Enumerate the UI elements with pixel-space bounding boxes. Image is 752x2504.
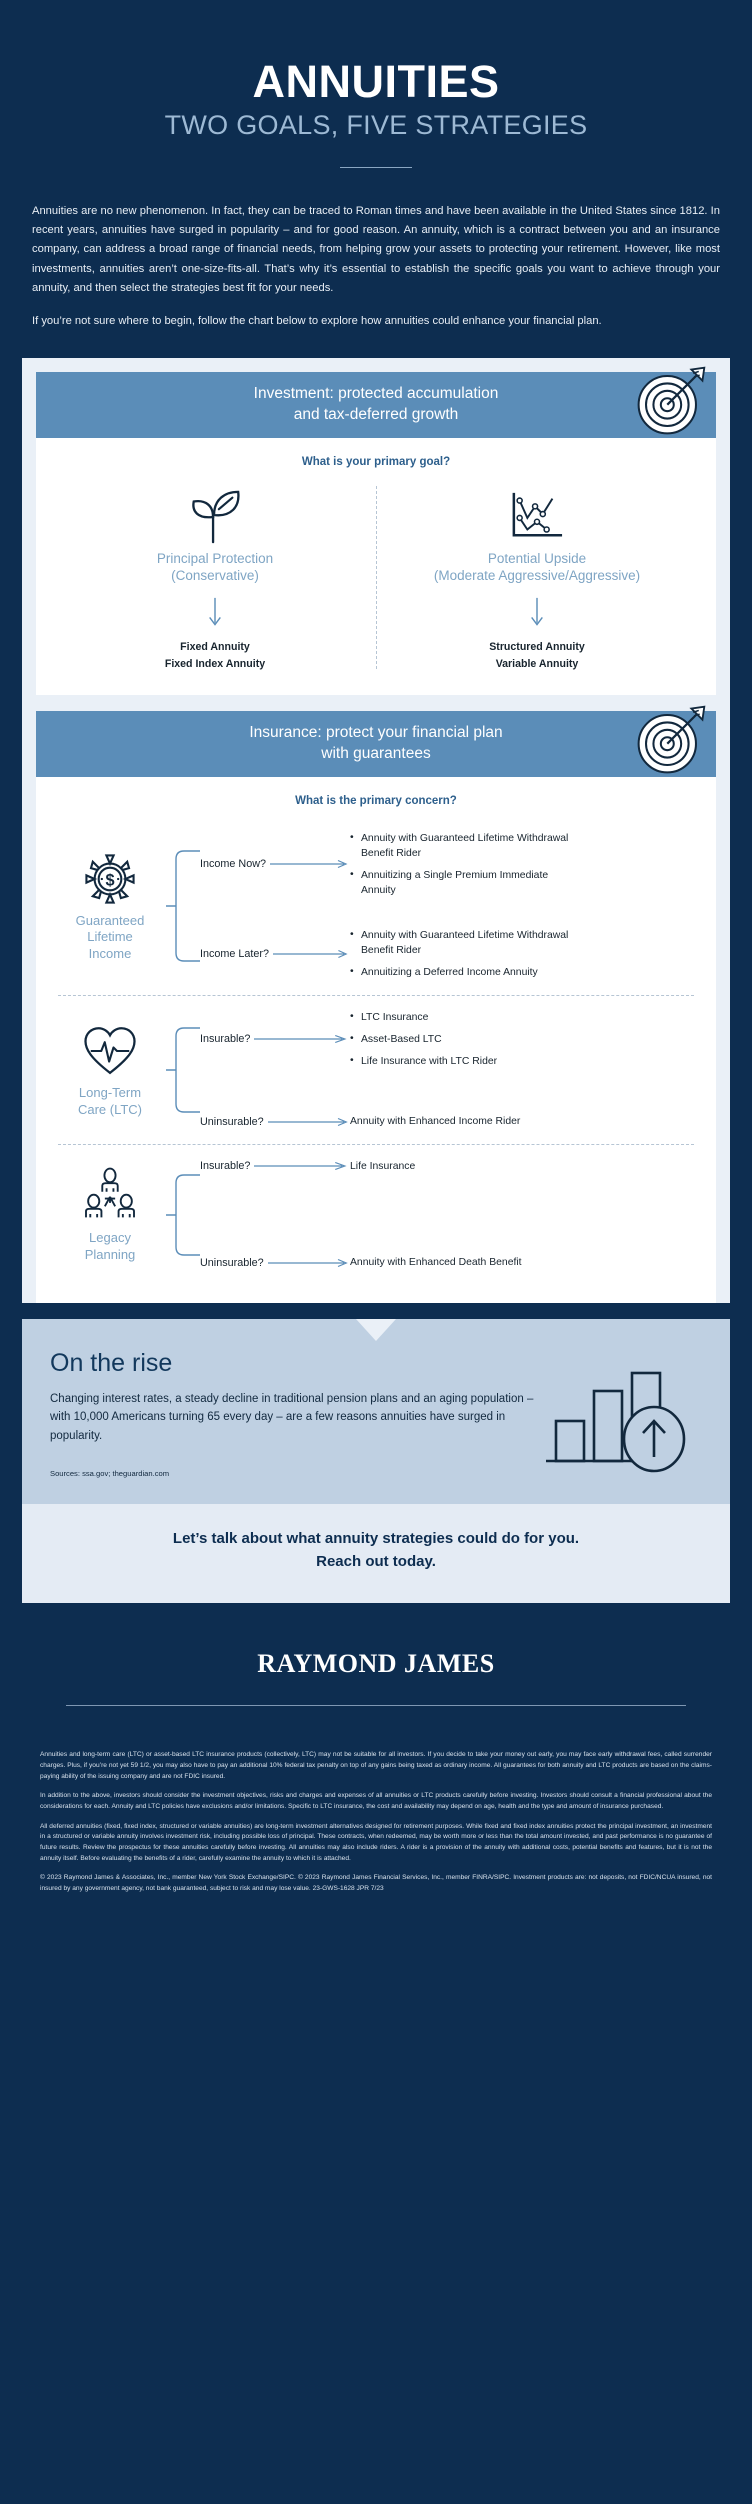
cta-text: Let’s talk about what annuity strategies… <box>46 1528 706 1573</box>
disclaimer-paragraph-4: © 2023 Raymond James & Associates, Inc.,… <box>40 1873 712 1894</box>
investment-heading-line-2: and tax-deferred growth <box>294 406 459 423</box>
on-the-rise-section: On the rise Changing interest rates, a s… <box>22 1319 730 1505</box>
list-item: Life Insurance <box>350 1159 582 1174</box>
insurance-panel-header: Insurance: protect your financial plan w… <box>36 711 716 777</box>
branch-brace <box>166 1159 200 1271</box>
branch-arrow-icon <box>273 949 350 959</box>
sprout-leaf-icon <box>62 488 368 544</box>
insurance-row-long-term-care: Long-Term Care (LTC) Insurable? <box>54 1000 698 1140</box>
principal-protection-title: Principal Protection <box>157 551 273 566</box>
investment-panel: Investment: protected accumulation and t… <box>36 372 716 695</box>
insurance-row-legacy-planning: Legacy Planning Insurable? <box>54 1149 698 1281</box>
heart-pulse-icon <box>54 1021 166 1081</box>
insurance-panel-body: What is the primary concern? <box>36 777 716 1303</box>
list-item: Life Insurance with LTC Rider <box>350 1054 582 1069</box>
branch-outcomes: Annuity with Enhanced Income Rider <box>350 1114 582 1129</box>
row-name-line-2: Lifetime <box>87 929 133 944</box>
branch-question-label: Uninsurable? <box>200 1257 268 1269</box>
line-chart-icon <box>384 488 690 544</box>
branch: Income Later? Annuity with Guaranteed Li… <box>200 928 698 980</box>
svg-text:$: $ <box>105 871 114 889</box>
list-item: Structured Annuity <box>384 639 690 656</box>
insurance-row-label: Legacy Planning <box>54 1166 166 1263</box>
insurance-row-branches: Income Now? Annuity with Guaranteed Life… <box>166 831 698 981</box>
gear-dollar-icon: $ <box>54 849 166 909</box>
row-name-line-1: Long-Term <box>79 1085 141 1100</box>
insurance-panel: Insurance: protect your financial plan w… <box>36 711 716 1303</box>
insurance-row-label: $ Guaranteed Lifetime Income <box>54 849 166 962</box>
branch-brace <box>166 831 200 981</box>
strategy-chart-card: Investment: protected accumulation and t… <box>22 358 730 1303</box>
down-arrow-icon <box>62 597 368 629</box>
branch-question: Insurable? <box>200 1033 350 1045</box>
list-item: Fixed Annuity <box>62 639 368 656</box>
branch-outcomes: Life Insurance <box>350 1159 582 1174</box>
row-name-line-2: Planning <box>85 1247 136 1262</box>
branch-arrow-icon <box>268 1258 350 1268</box>
cta-line-2: Reach out today. <box>316 1553 436 1570</box>
page-subtitle: TWO GOALS, FIVE STRATEGIES <box>0 111 752 141</box>
branch-outcomes: Annuity with Guaranteed Lifetime Withdra… <box>350 928 582 980</box>
insurance-row-label: Long-Term Care (LTC) <box>54 1021 166 1118</box>
cta-line-1: Let’s talk about what annuity strategies… <box>173 1530 579 1547</box>
investment-panel-body: What is your primary goal? Principal Pro… <box>36 438 716 695</box>
insurance-row-branches: Insurable? Life Insurance Uni <box>166 1159 698 1271</box>
branch-list: Insurable? Life Insurance Uni <box>200 1159 698 1271</box>
branch-question: Uninsurable? <box>200 1257 350 1269</box>
row-name-line-3: Income <box>89 946 132 961</box>
potential-upside-subtitle: (Moderate Aggressive/Aggressive) <box>434 568 640 583</box>
insurance-heading-line-2: with guarantees <box>321 745 430 762</box>
branch: Uninsurable? Annuity with Enhanced Incom… <box>200 1114 698 1129</box>
row-separator <box>58 995 694 996</box>
potential-upside-title: Potential Upside <box>488 551 586 566</box>
disclaimer-paragraph-3: All deferred annuities (fixed, fixed ind… <box>40 1822 712 1865</box>
insurance-panel-heading: Insurance: protect your financial plan w… <box>249 723 502 765</box>
investment-column-principal-protection: Principal Protection (Conservative) Fixe… <box>54 488 376 673</box>
notch-pointer <box>356 1319 396 1341</box>
family-group-icon <box>54 1166 166 1226</box>
branch-list: Insurable? LTC Insurance Asset-Based LTC… <box>200 1010 698 1130</box>
insurance-row-guaranteed-lifetime-income: $ Guaranteed Lifetime Income <box>54 821 698 991</box>
list-item: Annuity with Guaranteed Lifetime Withdra… <box>350 831 582 861</box>
investment-heading-line-1: Investment: protected accumulation <box>254 385 499 402</box>
branch-question: Income Later? <box>200 948 350 960</box>
branch-arrow-icon <box>254 1034 350 1044</box>
intro-paragraph-1: Annuities are no new phenomenon. In fact… <box>32 202 720 298</box>
disclaimer-section: Annuities and long-term care (LTC) or as… <box>0 1728 752 1928</box>
list-item: Annuitizing a Single Premium Immediate A… <box>350 868 582 898</box>
branch: Insurable? Life Insurance <box>200 1159 698 1174</box>
branch-arrow-icon <box>270 859 350 869</box>
hero-section: ANNUITIES TWO GOALS, FIVE STRATEGIES <box>0 0 752 168</box>
branch-question: Uninsurable? <box>200 1116 350 1128</box>
intro-paragraph-2: If you’re not sure where to begin, follo… <box>32 312 720 331</box>
list-item: Annuitizing a Deferred Income Annuity <box>350 965 582 980</box>
branch: Uninsurable? Annuity with Enhanced Death… <box>200 1255 698 1270</box>
branch-question: Insurable? <box>200 1160 350 1172</box>
page-title: ANNUITIES <box>0 58 752 105</box>
investment-panel-header: Investment: protected accumulation and t… <box>36 372 716 438</box>
logo-divider <box>66 1705 686 1706</box>
row-name-line-2: Care (LTC) <box>78 1102 142 1117</box>
list-item: Annuity with Guaranteed Lifetime Withdra… <box>350 928 582 958</box>
list-item: Annuity with Enhanced Death Benefit <box>350 1255 582 1270</box>
brand-logo-area: RAYMOND JAMES <box>0 1603 752 1728</box>
list-item: Variable Annuity <box>384 656 690 673</box>
branch-list: Income Now? Annuity with Guaranteed Life… <box>200 831 698 981</box>
investment-column-items: Fixed Annuity Fixed Index Annuity <box>62 639 368 673</box>
intro-section: Annuities are no new phenomenon. In fact… <box>0 168 752 332</box>
branch-brace <box>166 1010 200 1130</box>
raymond-james-logo: RAYMOND JAMES <box>0 1649 752 1679</box>
branch-question: Income Now? <box>200 858 350 870</box>
list-item: Fixed Index Annuity <box>62 656 368 673</box>
branch-question-label: Insurable? <box>200 1160 254 1172</box>
investment-column-title: Potential Upside (Moderate Aggressive/Ag… <box>384 550 690 585</box>
on-the-rise-sources: Sources: ssa.gov; theguardian.com <box>50 1469 542 1478</box>
down-arrow-icon <box>384 597 690 629</box>
investment-question: What is your primary goal? <box>54 456 698 468</box>
list-item: Annuity with Enhanced Income Rider <box>350 1114 582 1129</box>
investment-column-items: Structured Annuity Variable Annuity <box>384 639 690 673</box>
cta-section: Let’s talk about what annuity strategies… <box>22 1504 730 1603</box>
investment-columns: Principal Protection (Conservative) Fixe… <box>54 482 698 673</box>
on-the-rise-title: On the rise <box>50 1349 542 1378</box>
insurance-question: What is the primary concern? <box>54 795 698 807</box>
list-item: Asset-Based LTC <box>350 1032 582 1047</box>
branch-question-label: Income Later? <box>200 948 273 960</box>
investment-column-title: Principal Protection (Conservative) <box>62 550 368 585</box>
list-item: LTC Insurance <box>350 1010 582 1025</box>
target-arrow-icon <box>634 364 708 438</box>
target-arrow-icon <box>634 703 708 777</box>
branch: Insurable? LTC Insurance Asset-Based LTC… <box>200 1010 698 1069</box>
branch-outcomes: LTC Insurance Asset-Based LTC Life Insur… <box>350 1010 582 1069</box>
disclaimer-paragraph-1: Annuities and long-term care (LTC) or as… <box>40 1750 712 1782</box>
insurance-row-name: Long-Term Care (LTC) <box>54 1085 166 1118</box>
principal-protection-subtitle: (Conservative) <box>171 568 259 583</box>
branch-question-label: Insurable? <box>200 1033 254 1045</box>
branch-outcomes: Annuity with Enhanced Death Benefit <box>350 1255 582 1270</box>
insurance-row-name: Guaranteed Lifetime Income <box>54 913 166 962</box>
branch-question-label: Uninsurable? <box>200 1116 268 1128</box>
row-name-line-1: Guaranteed <box>76 913 145 928</box>
branch-question-label: Income Now? <box>200 858 270 870</box>
branch-arrow-icon <box>268 1117 350 1127</box>
column-divider <box>376 486 377 669</box>
insurance-heading-line-1: Insurance: protect your financial plan <box>249 724 502 741</box>
disclaimer-paragraph-2: In addition to the above, investors shou… <box>40 1791 712 1812</box>
insurance-row-branches: Insurable? LTC Insurance Asset-Based LTC… <box>166 1010 698 1130</box>
investment-column-potential-upside: Potential Upside (Moderate Aggressive/Ag… <box>376 488 698 673</box>
on-the-rise-body: Changing interest rates, a steady declin… <box>50 1390 542 1446</box>
branch-arrow-icon <box>254 1161 350 1171</box>
investment-panel-heading: Investment: protected accumulation and t… <box>254 384 499 426</box>
branch-outcomes: Annuity with Guaranteed Lifetime Withdra… <box>350 831 582 898</box>
row-name-line-1: Legacy <box>89 1230 131 1245</box>
insurance-row-name: Legacy Planning <box>54 1230 166 1263</box>
bar-chart-up-arrow-icon <box>542 1349 702 1475</box>
row-separator <box>58 1144 694 1145</box>
branch: Income Now? Annuity with Guaranteed Life… <box>200 831 698 898</box>
